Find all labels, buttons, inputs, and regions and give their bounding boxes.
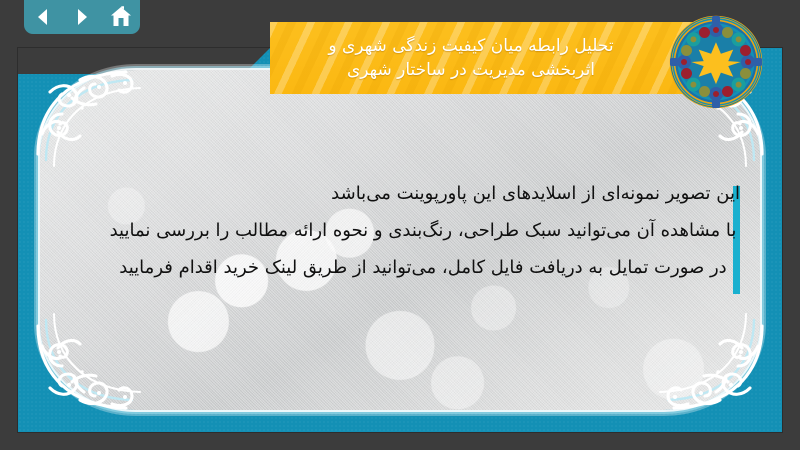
next-slide-icon bbox=[71, 6, 93, 28]
body-line-2: با مشاهده آن می‌توانید سبک طراحی، رنگ‌بن… bbox=[78, 217, 768, 244]
slide-title-line-1: تحلیل رابطه میان کیفیت زندگی شهری و bbox=[328, 34, 613, 58]
home-icon bbox=[109, 5, 133, 29]
body-line-3: در صورت تمایل به دریافت فایل کامل، می‌تو… bbox=[78, 254, 768, 281]
previous-slide-button[interactable] bbox=[30, 4, 56, 30]
slide-navigation-bar bbox=[24, 0, 140, 34]
slide-viewer: این تصویر نمونه‌ای از اسلایدهای این پاور… bbox=[0, 0, 800, 450]
slide-body-text: این تصویر نمونه‌ای از اسلایدهای این پاور… bbox=[78, 180, 768, 281]
slide-title-banner: تحلیل رابطه میان کیفیت زندگی شهری و اثرب… bbox=[270, 22, 718, 94]
next-slide-button[interactable] bbox=[69, 4, 95, 30]
slide-title-line-2: اثربخشی مدیریت در ساختار شهری bbox=[347, 58, 595, 82]
home-button[interactable] bbox=[108, 4, 134, 30]
previous-slide-icon bbox=[32, 6, 54, 28]
body-line-1: این تصویر نمونه‌ای از اسلایدهای این پاور… bbox=[78, 180, 768, 207]
persian-medallion-ornament-icon bbox=[668, 14, 764, 110]
